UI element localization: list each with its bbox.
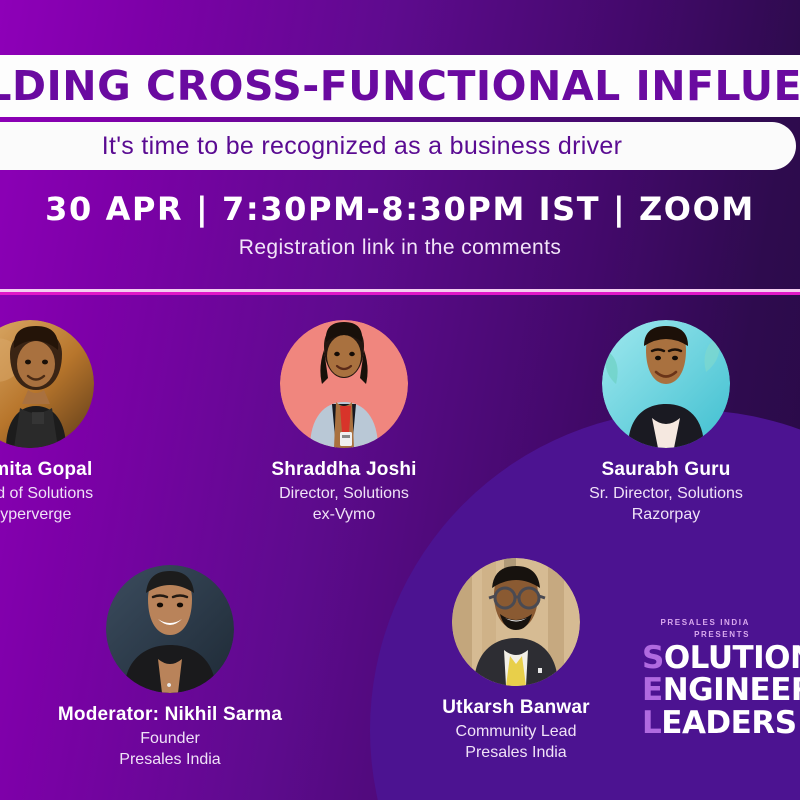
speaker-card: Moderator: Nikhil Sarma Founder Presales… (40, 565, 300, 769)
speaker-role: Community Lead (386, 723, 646, 741)
logo-rest-leaders: EADERS (661, 705, 796, 741)
speaker-card: Utkarsh Banwar Community Lead Presales I… (386, 558, 646, 762)
speaker-org: Presales India (386, 744, 646, 762)
logo-kicker-line1: PRESALES INDIA (642, 617, 750, 629)
logo-rest-engineering: NGINEERING (663, 672, 800, 708)
logo-word-leaders: LEADERS (642, 708, 800, 738)
speaker-card: Saurabh Guru Sr. Director, Solutions Raz… (536, 320, 796, 524)
speaker-avatar-saurabh-guru (602, 320, 730, 448)
speaker-name: Shraddha Joshi (214, 459, 474, 481)
title-banner: BUILDING CROSS-FUNCTIONAL INFLUENCE (0, 55, 800, 117)
brand-logo: PRESALES INDIA PRESENTS SOLUTIONS ENGINE… (642, 617, 800, 738)
header-section: BUILDING CROSS-FUNCTIONAL INFLUENCE It's… (0, 0, 800, 293)
logo-rest-solutions: OLUTIONS (664, 640, 800, 676)
speaker-role: Sr. Director, Solutions (536, 485, 796, 503)
speaker-avatar-shraddha-joshi (280, 320, 408, 448)
logo-word-engineering: ENGINEERING (642, 675, 800, 705)
speaker-name: Utkarsh Banwar (386, 697, 646, 719)
speaker-org: ex-Vymo (214, 506, 474, 524)
speaker-name: Namita Gopal (0, 459, 160, 481)
speaker-org: Presales India (40, 751, 300, 769)
logo-cap-e: E (642, 672, 663, 708)
webinar-poster: BUILDING CROSS-FUNCTIONAL INFLUENCE It's… (0, 0, 800, 800)
event-datetime: 30 APR | 7:30PM-8:30PM IST | ZOOM (0, 190, 800, 228)
speaker-org: Razorpay (536, 506, 796, 524)
logo-cap-l: L (642, 705, 661, 741)
speaker-role: Founder (40, 730, 300, 748)
registration-note: Registration link in the comments (0, 236, 800, 260)
subtitle-banner: It's time to be recognized as a business… (0, 122, 796, 170)
speaker-name: Saurabh Guru (536, 459, 796, 481)
speaker-role: Head of Solutions (0, 485, 160, 503)
speaker-avatar-utkarsh-banwar (452, 558, 580, 686)
speaker-card: Namita Gopal Head of Solutions Hyperverg… (0, 320, 160, 524)
speaker-org: Hyperverge (0, 506, 160, 524)
logo-cap-s: S (642, 640, 664, 676)
speaker-avatar-nikhil-sarma (106, 565, 234, 693)
logo-word-solutions: SOLUTIONS (642, 643, 800, 673)
page-subtitle: It's time to be recognized as a business… (102, 132, 623, 161)
speaker-role: Director, Solutions (214, 485, 474, 503)
speaker-name: Moderator: Nikhil Sarma (40, 704, 300, 726)
page-title: BUILDING CROSS-FUNCTIONAL INFLUENCE (0, 62, 800, 110)
speaker-avatar-namita-gopal (0, 320, 94, 448)
speaker-card: Shraddha Joshi Director, Solutions ex-Vy… (214, 320, 474, 524)
